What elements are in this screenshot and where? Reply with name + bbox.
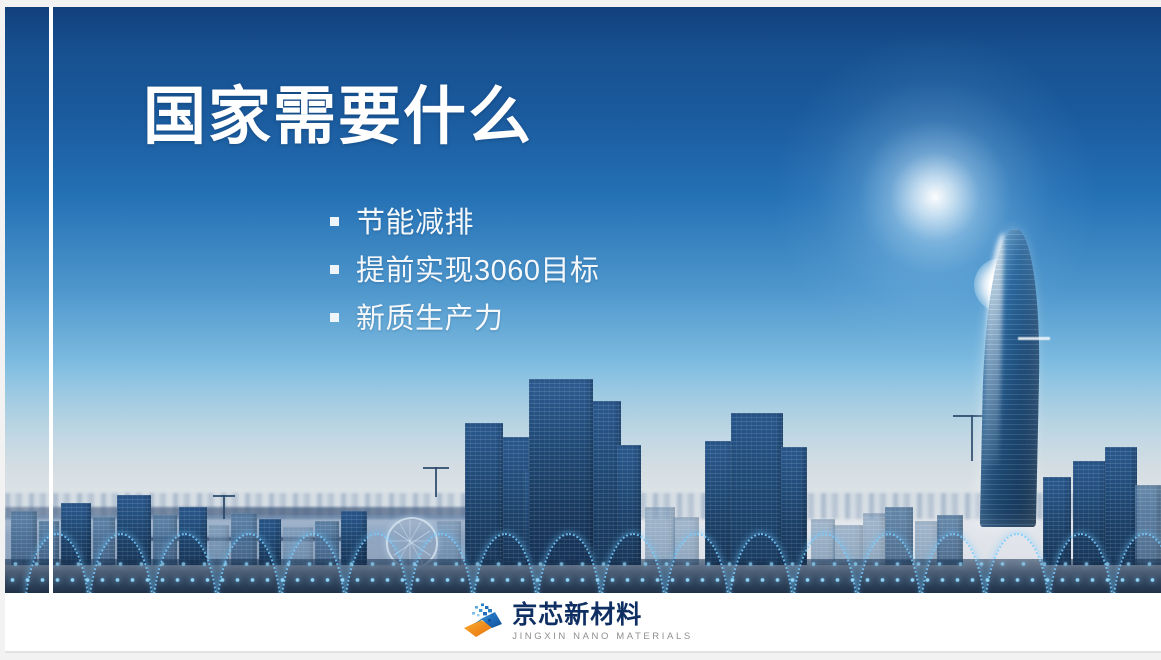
list-item: 提前实现3060目标 [330,244,600,292]
list-item-label: 新质生产力 [356,295,504,337]
bullet-list: 节能减排 提前实现3060目标 新质生产力 [330,196,600,340]
square-bullet-icon [330,313,339,322]
square-bullet-icon [330,217,339,226]
list-item: 新质生产力 [330,292,600,340]
list-item-label: 节能减排 [356,199,474,241]
slide-content: 国家需要什么 节能减排 提前实现3060目标 新质生产力 [0,0,1161,660]
list-item: 节能减排 [330,196,600,244]
list-item-label: 提前实现3060目标 [356,247,600,289]
presentation-slide: 国家需要什么 节能减排 提前实现3060目标 新质生产力 [0,0,1161,660]
page-title: 国家需要什么 [143,82,533,153]
square-bullet-icon [330,265,339,274]
